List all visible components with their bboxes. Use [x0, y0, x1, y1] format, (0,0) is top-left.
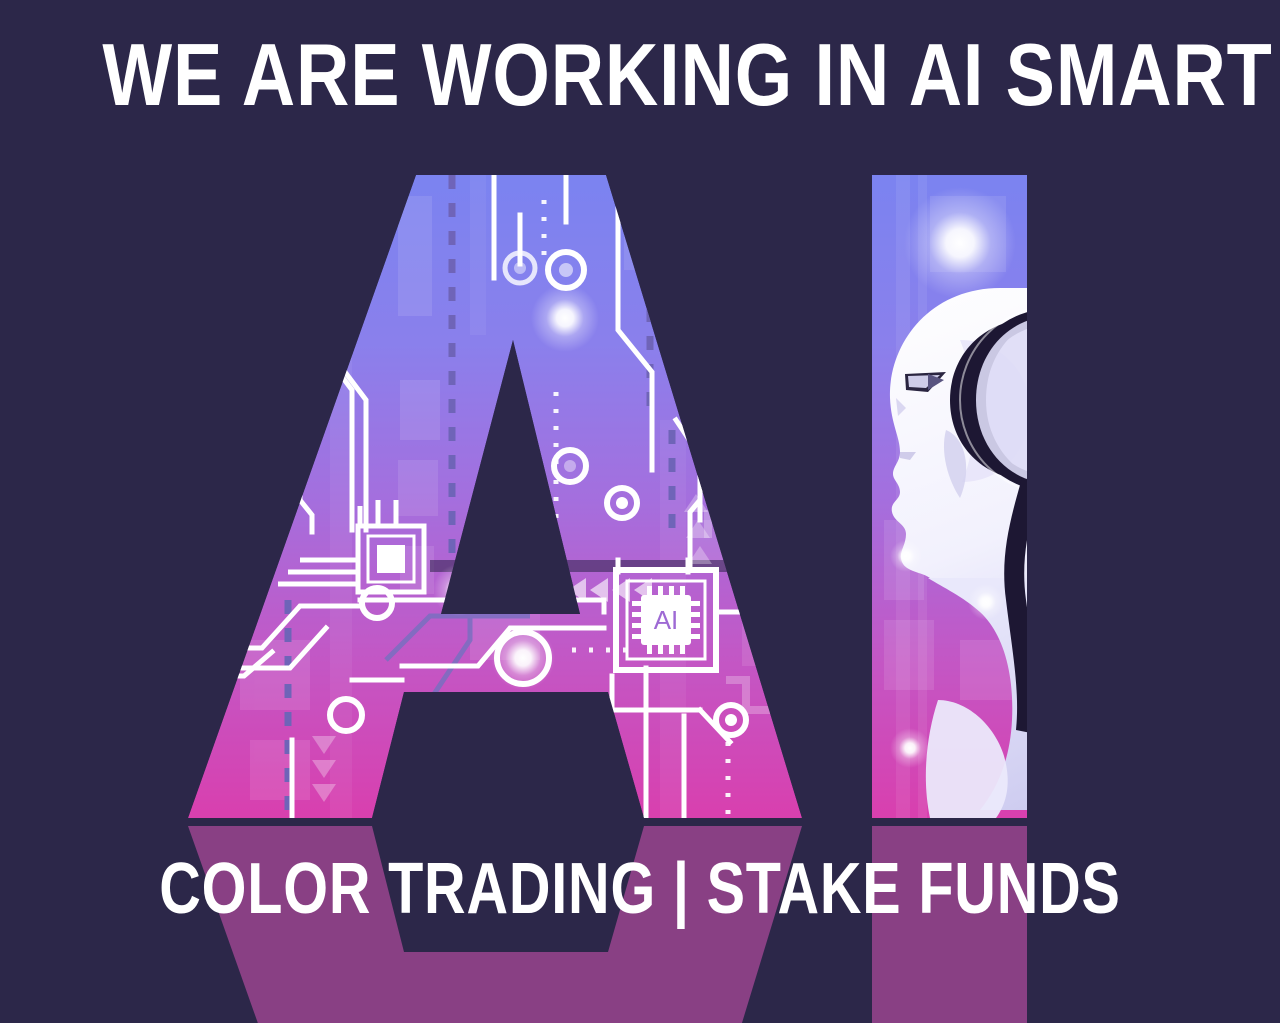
chip-label: AI	[654, 605, 679, 635]
page-title: WE ARE WORKING IN AI SMART EARN	[102, 30, 1177, 120]
dotted-marker-row	[492, 586, 549, 595]
page-subtitle: COLOR TRADING | STAKE FUNDS	[128, 852, 1152, 926]
poster-canvas: WE ARE WORKING IN AI SMART EARN	[0, 0, 1280, 1023]
letter-a: AI	[188, 175, 802, 818]
